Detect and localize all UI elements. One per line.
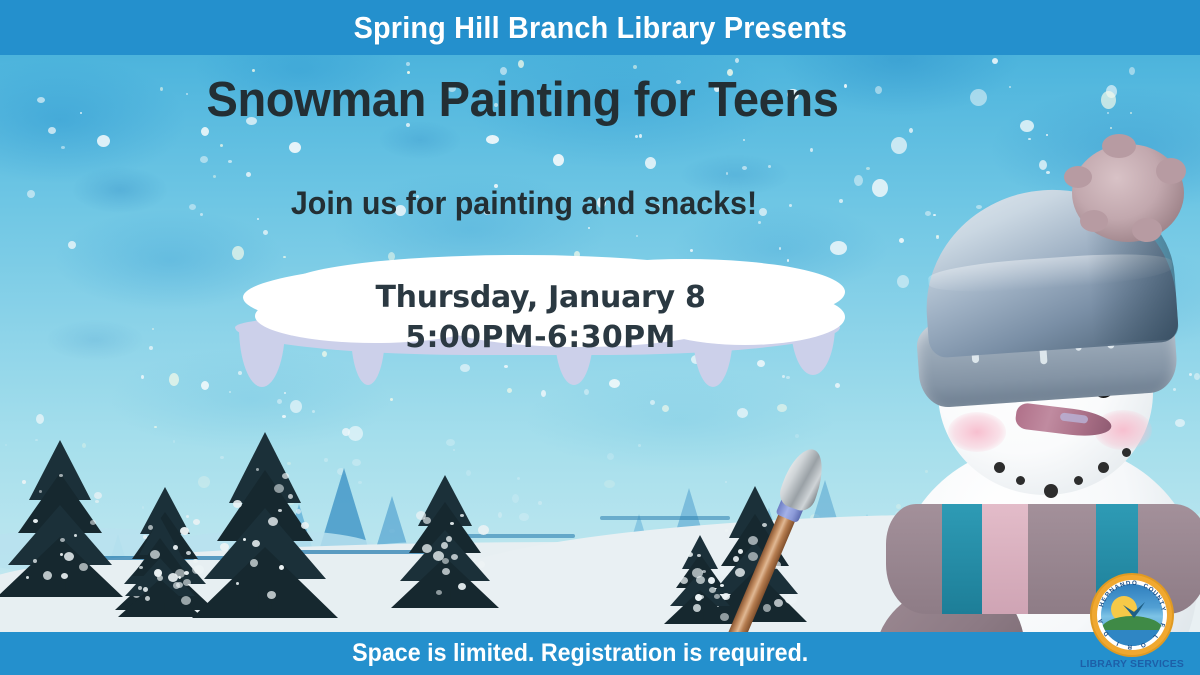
pine-tree — [118, 518, 202, 614]
page-title: Snowman Painting for Teens — [21, 72, 1024, 128]
hernando-county-library-logo: HERNANDO COUNTYFLORIDA LIBRARY SERVICES — [1078, 575, 1186, 671]
pine-tree — [0, 442, 123, 592]
event-time: 5:00PM-6:30PM — [248, 318, 833, 358]
page-subtitle: Join us for painting and snacks! — [26, 185, 1022, 222]
presenter-line: Spring Hill Branch Library Presents — [353, 10, 847, 46]
pine-tree — [391, 476, 499, 604]
seal-text: HERNANDO COUNTYFLORIDA — [1092, 575, 1172, 655]
snowman-cheek-left — [948, 412, 1006, 452]
event-date: Thursday, January 8 — [248, 278, 833, 318]
county-seal-icon: HERNANDO COUNTYFLORIDA — [1092, 575, 1172, 655]
footer-bar: Space is limited. Registration is requir… — [0, 632, 1200, 675]
event-datetime-block: Thursday, January 8 5:00PM-6:30PM — [248, 278, 833, 358]
pine-tree — [192, 434, 338, 612]
event-flyer-poster: Spring Hill Branch Library Presents Snow… — [0, 0, 1200, 675]
registration-notice: Space is limited. Registration is requir… — [352, 639, 808, 668]
header-bar: Spring Hill Branch Library Presents — [0, 0, 1200, 55]
snowman-hat-pompom — [1072, 144, 1184, 242]
library-services-label: LIBRARY SERVICES — [1078, 659, 1186, 670]
